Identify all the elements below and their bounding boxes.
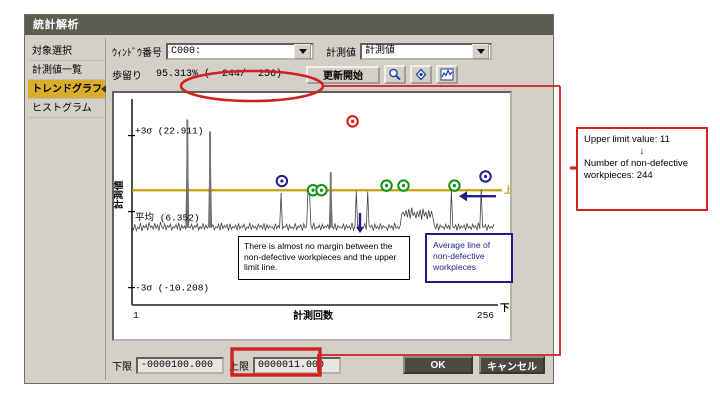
lower-limit-value: -0000100.000 xyxy=(141,359,213,372)
upper-limit-input[interactable]: 0000011.000 xyxy=(253,357,341,374)
chevron-down-icon[interactable] xyxy=(294,44,311,59)
svg-text:+3σ (22.911): +3σ (22.911) xyxy=(135,126,203,137)
data-point-marker-pass xyxy=(316,185,326,195)
page-title: 統計解析 xyxy=(33,19,79,31)
sidebar-item-target-select[interactable]: 対象選択 xyxy=(28,42,105,61)
update-start-label: 更新開始 xyxy=(323,67,363,82)
sidebar-item-histogram[interactable]: ヒストグラム xyxy=(28,99,105,118)
svg-text:下限 ↓: 下限 ↓ xyxy=(500,303,510,314)
sidebar-item-label: ヒストグラム xyxy=(32,103,92,114)
cancel-label: キャンセル xyxy=(487,358,537,373)
window-number-select[interactable]: C000: xyxy=(166,43,314,60)
sidebar-item-label: 計測値一覧 xyxy=(32,65,82,76)
svg-text:平均 (6.352): 平均 (6.352) xyxy=(135,212,200,224)
data-point-marker-near-limit xyxy=(480,171,490,181)
data-point-marker-near-limit xyxy=(277,176,287,186)
measured-value-selected: 計測値 xyxy=(365,44,395,59)
upper-limit-annotation-line2: Number of non-defective workpieces: 244 xyxy=(584,158,700,182)
limits-footer: 下限 -0000100.000 上限 0000011.000 OK キャンセル xyxy=(112,354,545,376)
data-point-marker-defect xyxy=(347,116,357,126)
graph-icon[interactable] xyxy=(436,65,458,84)
down-arrow-icon: ↓ xyxy=(584,146,700,158)
magnifier-icon[interactable] xyxy=(384,65,406,84)
measured-value-label: 計測値 xyxy=(326,44,356,59)
upper-limit-label: 上限 xyxy=(229,358,249,373)
lower-limit-label: 下限 xyxy=(112,358,132,373)
window-number-label: ｳｨﾝﾄﾞｳ番号 xyxy=(112,44,162,59)
sidebar-item-trend-graph[interactable]: トレンドグラフ xyxy=(28,80,105,99)
svg-text:計測回数: 計測回数 xyxy=(293,309,334,322)
data-point-marker-pass xyxy=(381,180,391,190)
data-point-marker-pass xyxy=(398,180,408,190)
blue-pointer-arrow-icon xyxy=(356,245,364,261)
window-body: 対象選択 計測値一覧 トレンドグラフ ヒストグラム ｳｨﾝﾄﾞｳ番号 C000:… xyxy=(28,38,550,380)
measured-value-select[interactable]: 計測値 xyxy=(360,43,492,60)
ok-label: OK xyxy=(431,360,446,371)
main-pane: ｳｨﾝﾄﾞｳ番号 C000: 計測値 計測値 歩留り 95.313% ( 244… xyxy=(106,38,550,380)
svg-text:計測値: 計測値 xyxy=(114,180,125,209)
data-point-marker-pass xyxy=(449,180,459,190)
svg-text:-3σ (-10.208): -3σ (-10.208) xyxy=(135,283,209,294)
fit-icon[interactable] xyxy=(410,65,432,84)
trend-graph[interactable]: +3σ (22.911)平均 (6.352)-3σ (-10.208)上限下限 … xyxy=(112,91,512,341)
svg-text:256: 256 xyxy=(477,310,494,321)
cancel-button[interactable]: キャンセル xyxy=(479,356,545,374)
yield-row: 歩留り 95.313% ( 244/ 256) 更新開始 xyxy=(112,65,545,84)
window-number-value: C000: xyxy=(171,44,201,59)
window-number-row: ｳｨﾝﾄﾞｳ番号 C000: 計測値 計測値 xyxy=(112,42,545,61)
upper-limit-annotation: Upper limit value: 11 ↓ Number of non-de… xyxy=(576,127,708,211)
sidebar: 対象選択 計測値一覧 トレンドグラフ ヒストグラム xyxy=(28,38,106,380)
trend-graph-canvas: +3σ (22.911)平均 (6.352)-3σ (-10.208)上限下限 … xyxy=(114,93,510,339)
lower-limit-input[interactable]: -0000100.000 xyxy=(136,357,224,374)
chevron-down-icon[interactable] xyxy=(472,44,489,59)
statistical-analysis-window: 統計解析 対象選択 計測値一覧 トレンドグラフ ヒストグラム ｳｨﾝﾄﾞｳ番号 … xyxy=(24,14,554,384)
yield-value: 95.313% ( 244/ 256) xyxy=(156,69,306,80)
ok-button[interactable]: OK xyxy=(403,356,473,374)
upper-limit-value: 0000011.000 xyxy=(258,359,324,372)
sidebar-item-label: 対象選択 xyxy=(32,46,72,57)
window-title-bar: 統計解析 xyxy=(25,15,553,35)
sidebar-item-value-list[interactable]: 計測値一覧 xyxy=(28,61,105,80)
svg-text:上限: 上限 xyxy=(504,184,510,195)
sidebar-item-label: トレンドグラフ xyxy=(32,84,102,95)
yield-label: 歩留り xyxy=(112,67,142,82)
update-start-button[interactable]: 更新開始 xyxy=(306,66,380,84)
blue-upper-limit-arrow-icon xyxy=(459,191,496,201)
svg-text:1: 1 xyxy=(133,310,139,321)
upper-limit-annotation-line1: Upper limit value: 11 xyxy=(584,134,700,146)
